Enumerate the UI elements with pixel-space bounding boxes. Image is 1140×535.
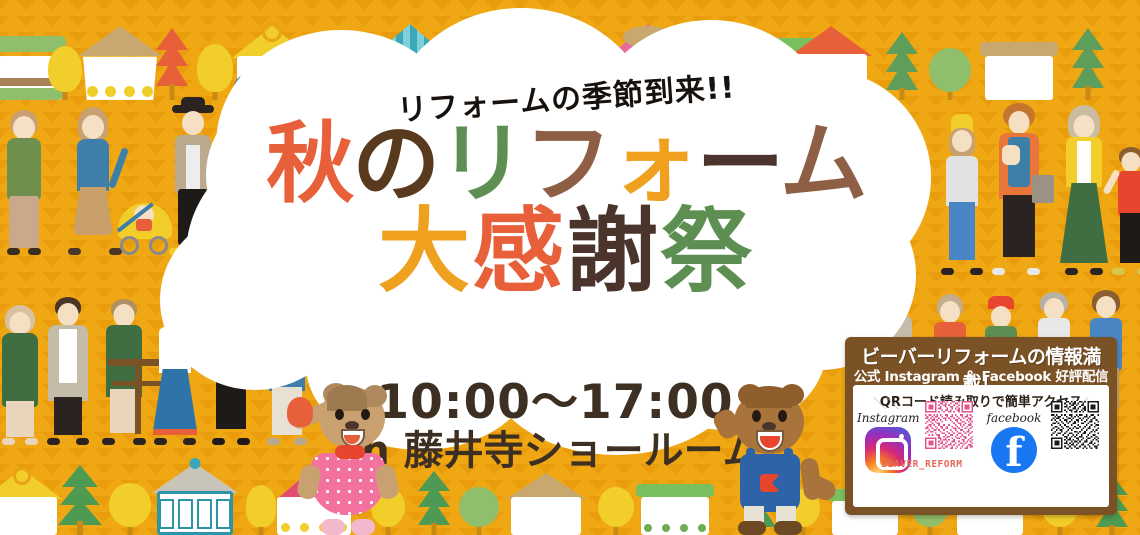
title-line-2: 大感謝祭 [236, 208, 896, 296]
qr-access-card: QRコード読み取りで簡単アクセス ＼＼ ／／ Instagram [853, 385, 1109, 507]
green-tree [928, 30, 972, 100]
white-tent [980, 34, 1058, 100]
white-tent [506, 471, 586, 535]
child-with-yellow-hat [938, 120, 986, 275]
beaver-boy-mascot [718, 386, 846, 535]
instagram-label: Instagram [857, 411, 919, 425]
instagram-qr-code[interactable] [925, 401, 973, 449]
yellow-tree [596, 473, 636, 535]
pine-tree [414, 465, 454, 535]
title-char-秋: 秋 [266, 112, 352, 215]
person-illustration [0, 305, 44, 445]
pine-tree [1068, 22, 1108, 100]
market-stall [152, 461, 238, 535]
autumn-reform-festival-banner: リフォームの季節到来!! 秋のリフォーム 大感謝祭 10:00〜17:00 in… [0, 0, 1140, 535]
parent-with-baby-carrier [988, 103, 1050, 275]
title-char-祭: 祭 [660, 198, 754, 305]
facebook-qr-svg [1051, 401, 1099, 449]
title-char-大: 大 [378, 198, 472, 305]
facebook-label: facebook [983, 411, 1045, 425]
child-waving [1110, 147, 1140, 275]
title-char-謝: 謝 [566, 198, 660, 305]
person-in-coat [42, 297, 94, 445]
title-char-感: 感 [472, 198, 566, 305]
headline-block: リフォームの季節到来!! 秋のリフォーム 大感謝祭 [236, 74, 896, 297]
title-line-1: 秋のリフォーム [236, 122, 896, 206]
pine-tree [58, 459, 102, 535]
tagline: リフォームの季節到来!! [236, 74, 896, 126]
facebook-icon[interactable]: f [991, 427, 1037, 473]
person-illustration [0, 110, 48, 255]
instagram-handle: BEAVER_REFORM [857, 459, 987, 470]
market-stall [636, 473, 714, 535]
green-tree [458, 473, 500, 535]
beaver-girl-mascot [285, 383, 407, 535]
white-tent [78, 28, 162, 100]
facebook-qr-code[interactable] [1051, 401, 1099, 449]
title-char-ム: ム [780, 112, 866, 215]
slash-left-decoration: ＼＼ [873, 393, 899, 412]
yellow-tree [108, 465, 152, 535]
instagram-qr-svg [925, 401, 973, 449]
facebook-block[interactable]: facebook f [983, 411, 1045, 507]
sns-promo-card[interactable]: ビーバーリフォームの情報満載！ 公式 Instagram ＆ Facebook … [845, 337, 1117, 515]
festival-house [0, 469, 62, 535]
